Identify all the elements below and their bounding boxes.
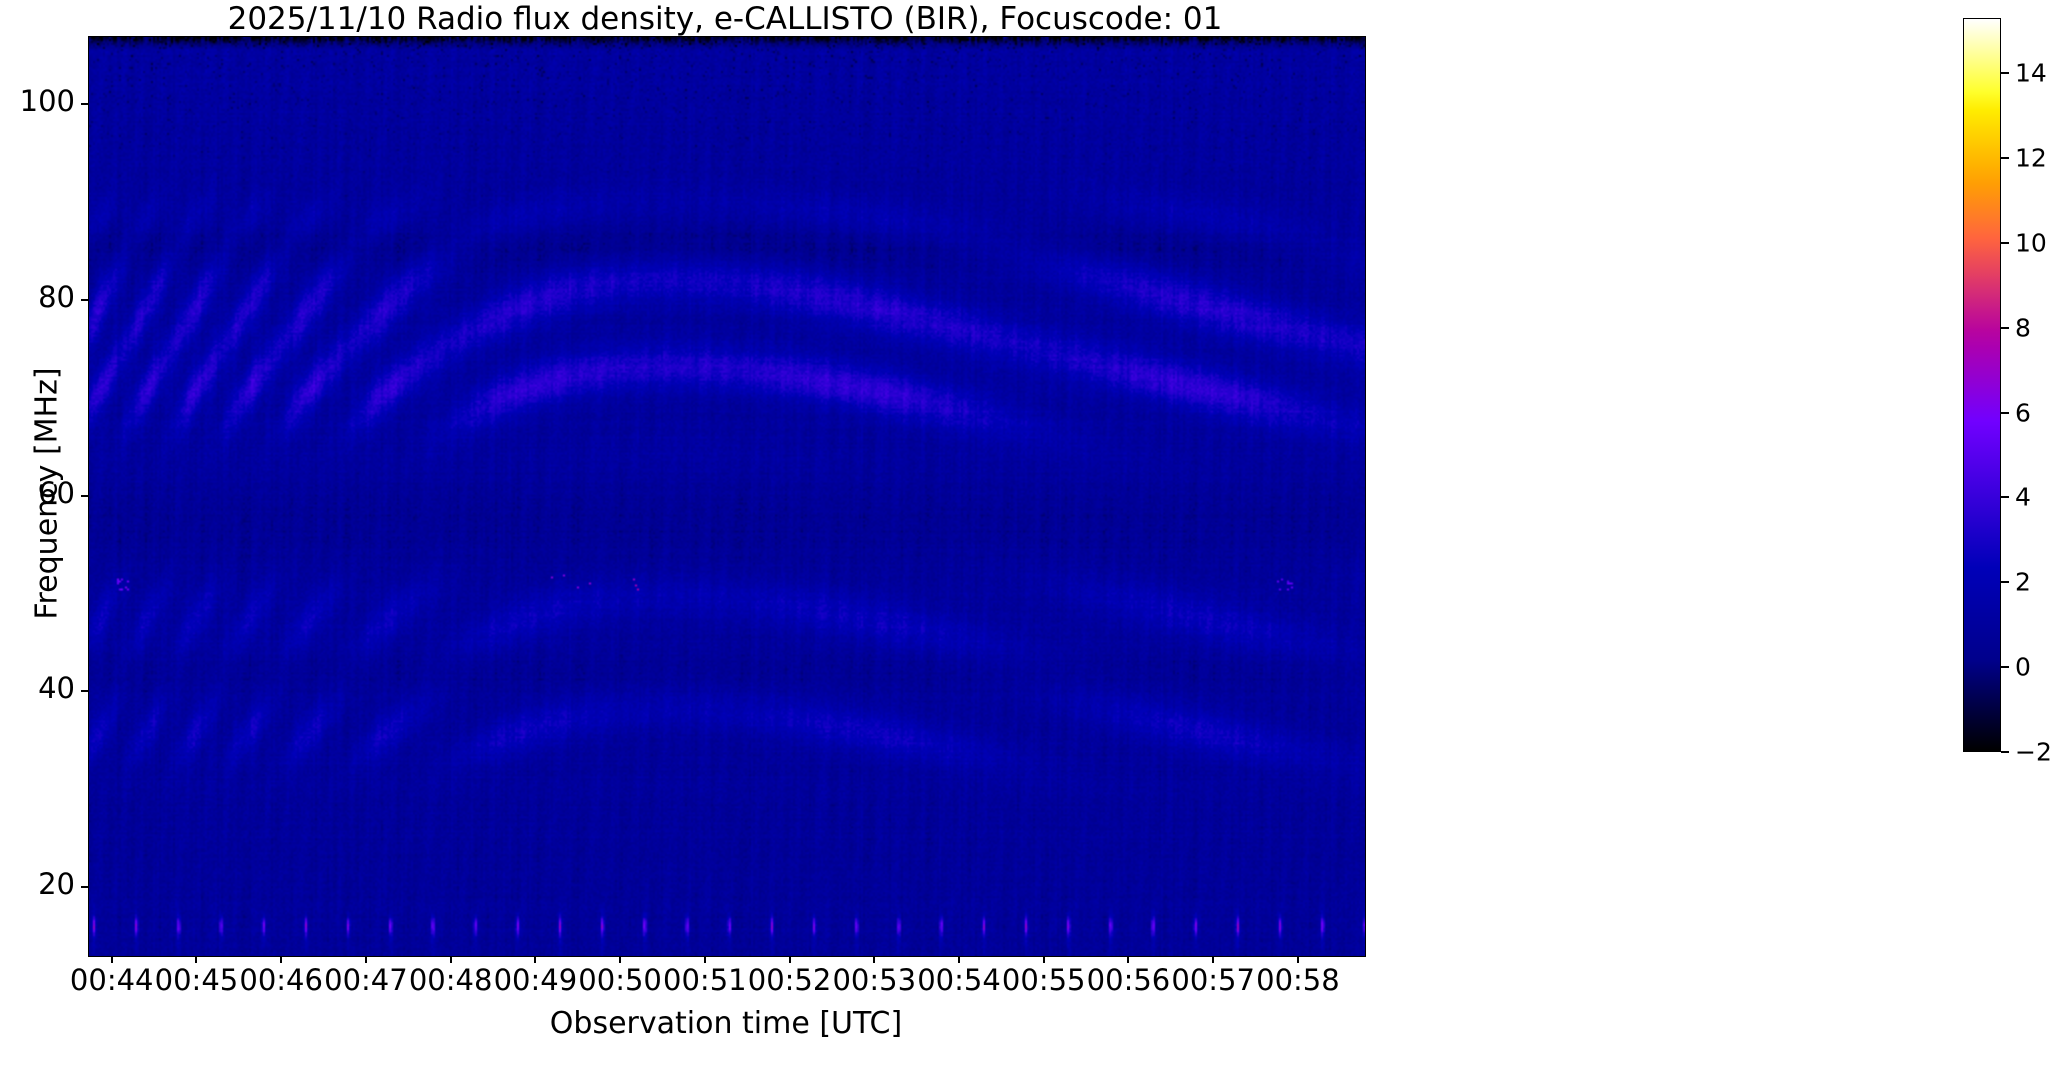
colorbar-tick-mark [2001, 242, 2009, 244]
spectrogram-plot-area [88, 36, 1366, 957]
x-axis-tick-label: 00:49 [494, 963, 578, 997]
y-axis-tick-label: 40 [38, 671, 75, 705]
y-axis-tick-mark [81, 103, 88, 105]
x-axis-tick-label: 00:50 [578, 963, 662, 997]
x-axis-tick-label: 00:47 [324, 963, 408, 997]
x-axis-tick-label: 00:46 [239, 963, 323, 997]
y-axis-tick-label: 60 [38, 476, 75, 510]
x-axis-tick-label: 00:56 [1087, 963, 1171, 997]
x-axis-tick-label: 00:57 [1171, 963, 1255, 997]
colorbar-tick-label: 10 [2015, 228, 2047, 257]
y-axis-tick-label: 20 [38, 867, 75, 901]
y-axis-tick-mark [81, 495, 88, 497]
x-axis-tick-label: 00:52 [748, 963, 832, 997]
colorbar-gradient [1963, 18, 2001, 752]
x-axis-tick-label: 00:44 [70, 963, 154, 997]
x-axis-tick-mark [873, 956, 875, 963]
x-axis-tick-label: 00:54 [917, 963, 1001, 997]
x-axis-tick-mark [704, 956, 706, 963]
colorbar-tick-mark [2001, 412, 2009, 414]
x-axis-tick-mark [195, 956, 197, 963]
chart-title: 2025/11/10 Radio flux density, e-CALLIST… [0, 1, 1450, 37]
colorbar-tick-label: 2 [2015, 568, 2031, 597]
colorbar-tick-label: 6 [2015, 398, 2031, 427]
x-axis-tick-label: 00:45 [155, 963, 239, 997]
x-axis-tick-mark [1043, 956, 1045, 963]
y-axis-tick-label: 80 [38, 280, 75, 314]
colorbar-tick-label: −2 [2015, 738, 2052, 767]
x-axis-label: Observation time [UTC] [88, 1006, 1364, 1041]
y-axis-tick-mark [81, 690, 88, 692]
colorbar-tick-mark [2001, 327, 2009, 329]
colorbar-tick-label: 12 [2015, 144, 2047, 173]
colorbar-tick-mark [2001, 496, 2009, 498]
colorbar-tick-label: 8 [2015, 313, 2031, 342]
colorbar-tick-mark [2001, 72, 2009, 74]
x-axis-tick-mark [111, 956, 113, 963]
x-axis-tick-mark [450, 956, 452, 963]
x-axis-tick-label: 00:58 [1256, 963, 1340, 997]
colorbar-tick-mark [2001, 581, 2009, 583]
x-axis-tick-label: 00:53 [832, 963, 916, 997]
x-axis-tick-label: 00:48 [409, 963, 493, 997]
x-axis-tick-mark [534, 956, 536, 963]
x-axis-tick-mark [619, 956, 621, 963]
x-axis-tick-mark [1297, 956, 1299, 963]
y-axis-tick-label: 100 [20, 84, 75, 118]
colorbar-tick-label: 0 [2015, 653, 2031, 682]
x-axis-tick-mark [365, 956, 367, 963]
x-axis-tick-mark [958, 956, 960, 963]
x-axis-tick-mark [1127, 956, 1129, 963]
x-axis-tick-label: 00:55 [1002, 963, 1086, 997]
figure-canvas: 2025/11/10 Radio flux density, e-CALLIST… [0, 0, 2066, 1067]
x-axis-tick-label: 00:51 [663, 963, 747, 997]
x-axis-tick-mark [280, 956, 282, 963]
colorbar-tick-mark [2001, 751, 2009, 753]
x-axis-tick-mark [1212, 956, 1214, 963]
colorbar-tick-label: 14 [2015, 59, 2047, 88]
y-axis-tick-mark [81, 299, 88, 301]
y-axis-tick-mark [81, 886, 88, 888]
colorbar-tick-mark [2001, 666, 2009, 668]
colorbar-tick-label: 4 [2015, 483, 2031, 512]
spectrogram-image [89, 37, 1365, 956]
colorbar: −202468101214 [1963, 18, 2001, 752]
x-axis-tick-mark [789, 956, 791, 963]
colorbar-tick-mark [2001, 157, 2009, 159]
